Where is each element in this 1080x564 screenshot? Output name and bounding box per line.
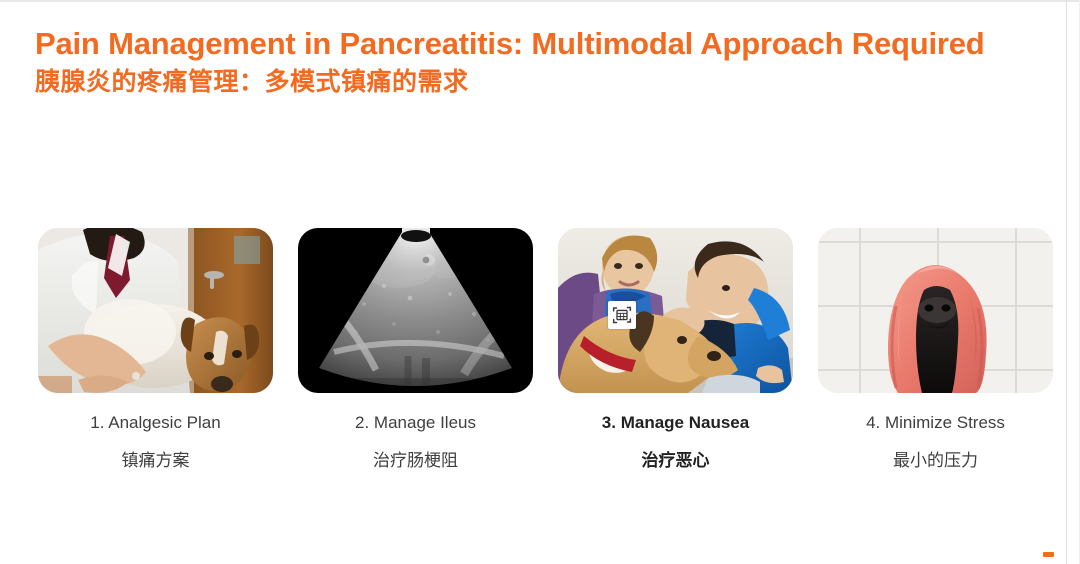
step-card-row: 1. Analgesic Plan 镇痛方案 xyxy=(38,228,1043,472)
abdominal-ultrasound-photo xyxy=(298,228,533,393)
step-card-3[interactable]: 3. Manage Nausea 治疗恶心 xyxy=(558,228,793,472)
card-caption-chinese-2: 治疗肠梗阻 xyxy=(373,451,458,471)
card-caption-english-2: 2. Manage Ileus xyxy=(355,413,476,433)
page-frame-right-rule xyxy=(1066,0,1067,564)
slide-title-english: Pain Management in Pancreatitis: Multimo… xyxy=(35,26,995,63)
step-card-1[interactable]: 1. Analgesic Plan 镇痛方案 xyxy=(38,228,273,472)
card-caption-chinese-3: 治疗恶心 xyxy=(642,451,710,471)
page-accent-mark xyxy=(1043,552,1054,557)
step-card-4[interactable]: 4. Minimize Stress 最小的压力 xyxy=(818,228,1053,472)
card-caption-english-4: 4. Minimize Stress xyxy=(866,413,1005,433)
staff-petting-dog-photo xyxy=(558,228,793,393)
dog-in-towel-photo xyxy=(818,228,1053,393)
slide-title-chinese: 胰腺炎的疼痛管理：多模式镇痛的需求 xyxy=(35,67,995,97)
card-caption-chinese-4: 最小的压力 xyxy=(893,451,978,471)
card-caption-english-3: 3. Manage Nausea xyxy=(602,413,749,433)
page-frame-top-rule xyxy=(0,0,1080,2)
thumbnail-minimize-stress[interactable] xyxy=(818,228,1053,393)
step-card-2[interactable]: 2. Manage Ileus 治疗肠梗阻 xyxy=(298,228,533,472)
vet-holding-dog-photo xyxy=(38,228,273,393)
scan-image-icon xyxy=(612,305,632,325)
card-caption-english-1: 1. Analgesic Plan xyxy=(90,413,220,433)
thumbnail-manage-nausea[interactable] xyxy=(558,228,793,393)
card-caption-chinese-1: 镇痛方案 xyxy=(122,451,190,471)
slide-canvas: Pain Management in Pancreatitis: Multimo… xyxy=(0,0,1080,564)
thumbnail-analgesic-plan[interactable] xyxy=(38,228,273,393)
thumbnail-manage-ileus[interactable] xyxy=(298,228,533,393)
scan-image-badge[interactable] xyxy=(608,301,636,329)
slide-title-block: Pain Management in Pancreatitis: Multimo… xyxy=(35,26,995,97)
